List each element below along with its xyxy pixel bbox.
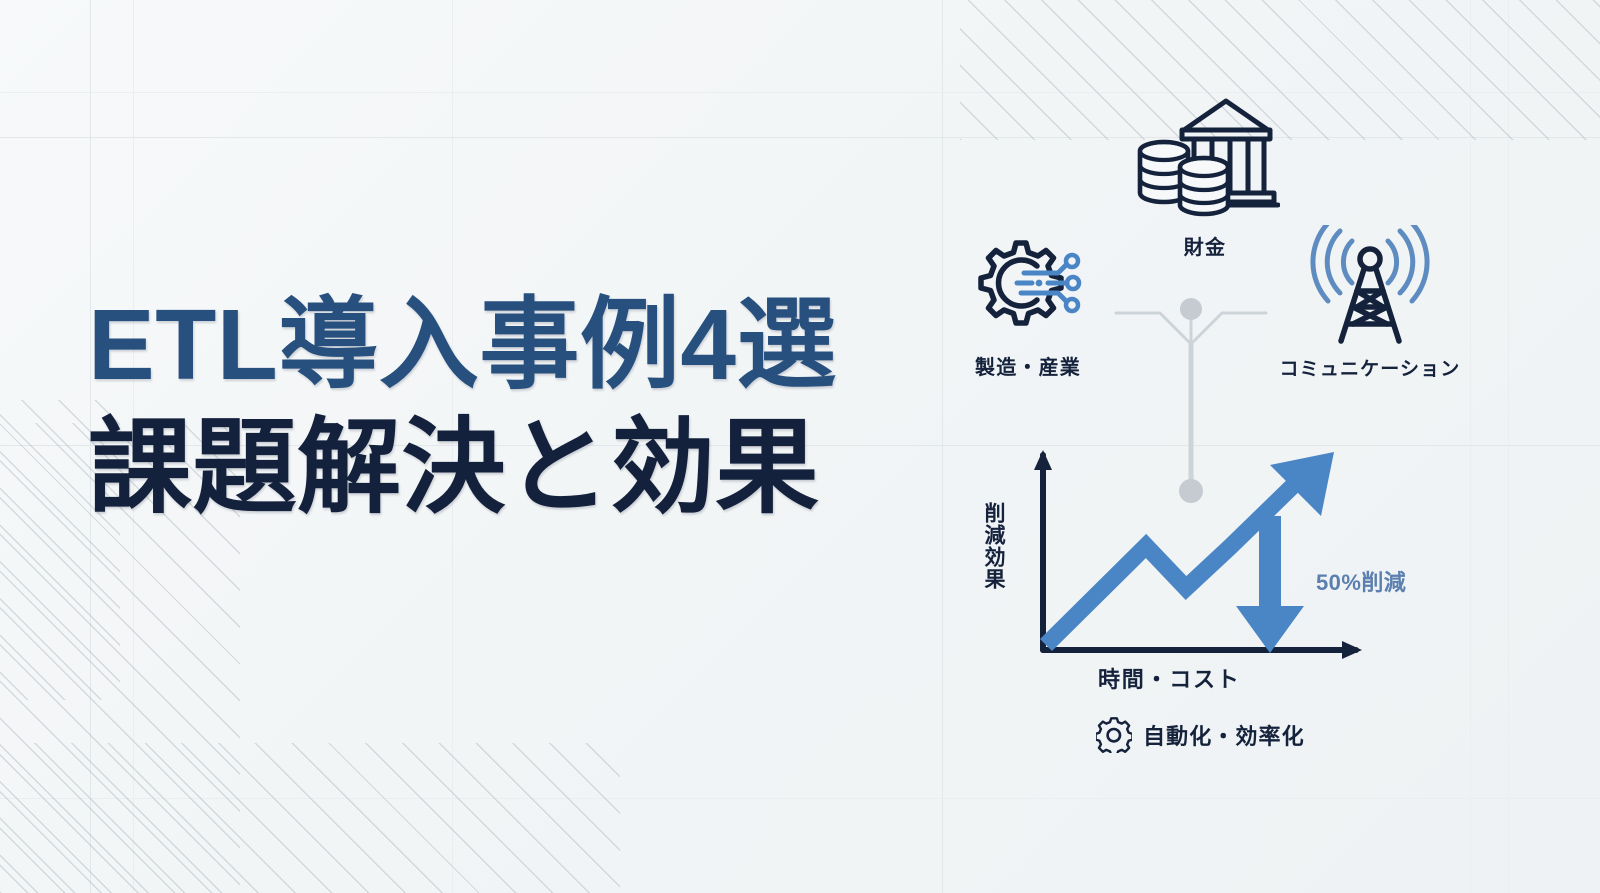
headline-block: ETL導入事例4選 課題解決と効果: [88, 292, 908, 524]
illustration-panel: 製造・産業: [920, 95, 1520, 795]
chart-annotation-reduction: 50%削減: [1316, 565, 1406, 597]
y-axis-arrowhead: [1034, 450, 1052, 470]
chart-x-axis-label: 時間・コスト: [1098, 662, 1241, 694]
headline-line-2: 課題解決と効果: [88, 413, 908, 524]
headline-line-1: ETL導入事例4選: [88, 292, 908, 399]
node-label-communication: コミュニケーション: [1220, 354, 1520, 381]
growth-chart: 削減効果 時間・コスト 50%削減 自動化・効率化: [968, 440, 1388, 760]
footer-note-label: 自動化・効率化: [1143, 719, 1305, 751]
antenna-tower-icon: [1305, 225, 1435, 350]
connector-dot-top: [1180, 298, 1202, 320]
gear-circuit-icon: [968, 235, 1088, 347]
chart-y-axis-label: 削減効果: [982, 502, 1004, 590]
node-label-manufacturing: 製造・産業: [918, 351, 1138, 380]
gear-icon: [1096, 717, 1132, 753]
bank-coins-icon: [1130, 95, 1280, 227]
x-axis-arrowhead: [1342, 641, 1362, 659]
chart-svg: [968, 440, 1388, 760]
node-communication: コミュニケーション: [1220, 225, 1520, 381]
footer-note: 自動化・効率化: [1096, 717, 1305, 753]
